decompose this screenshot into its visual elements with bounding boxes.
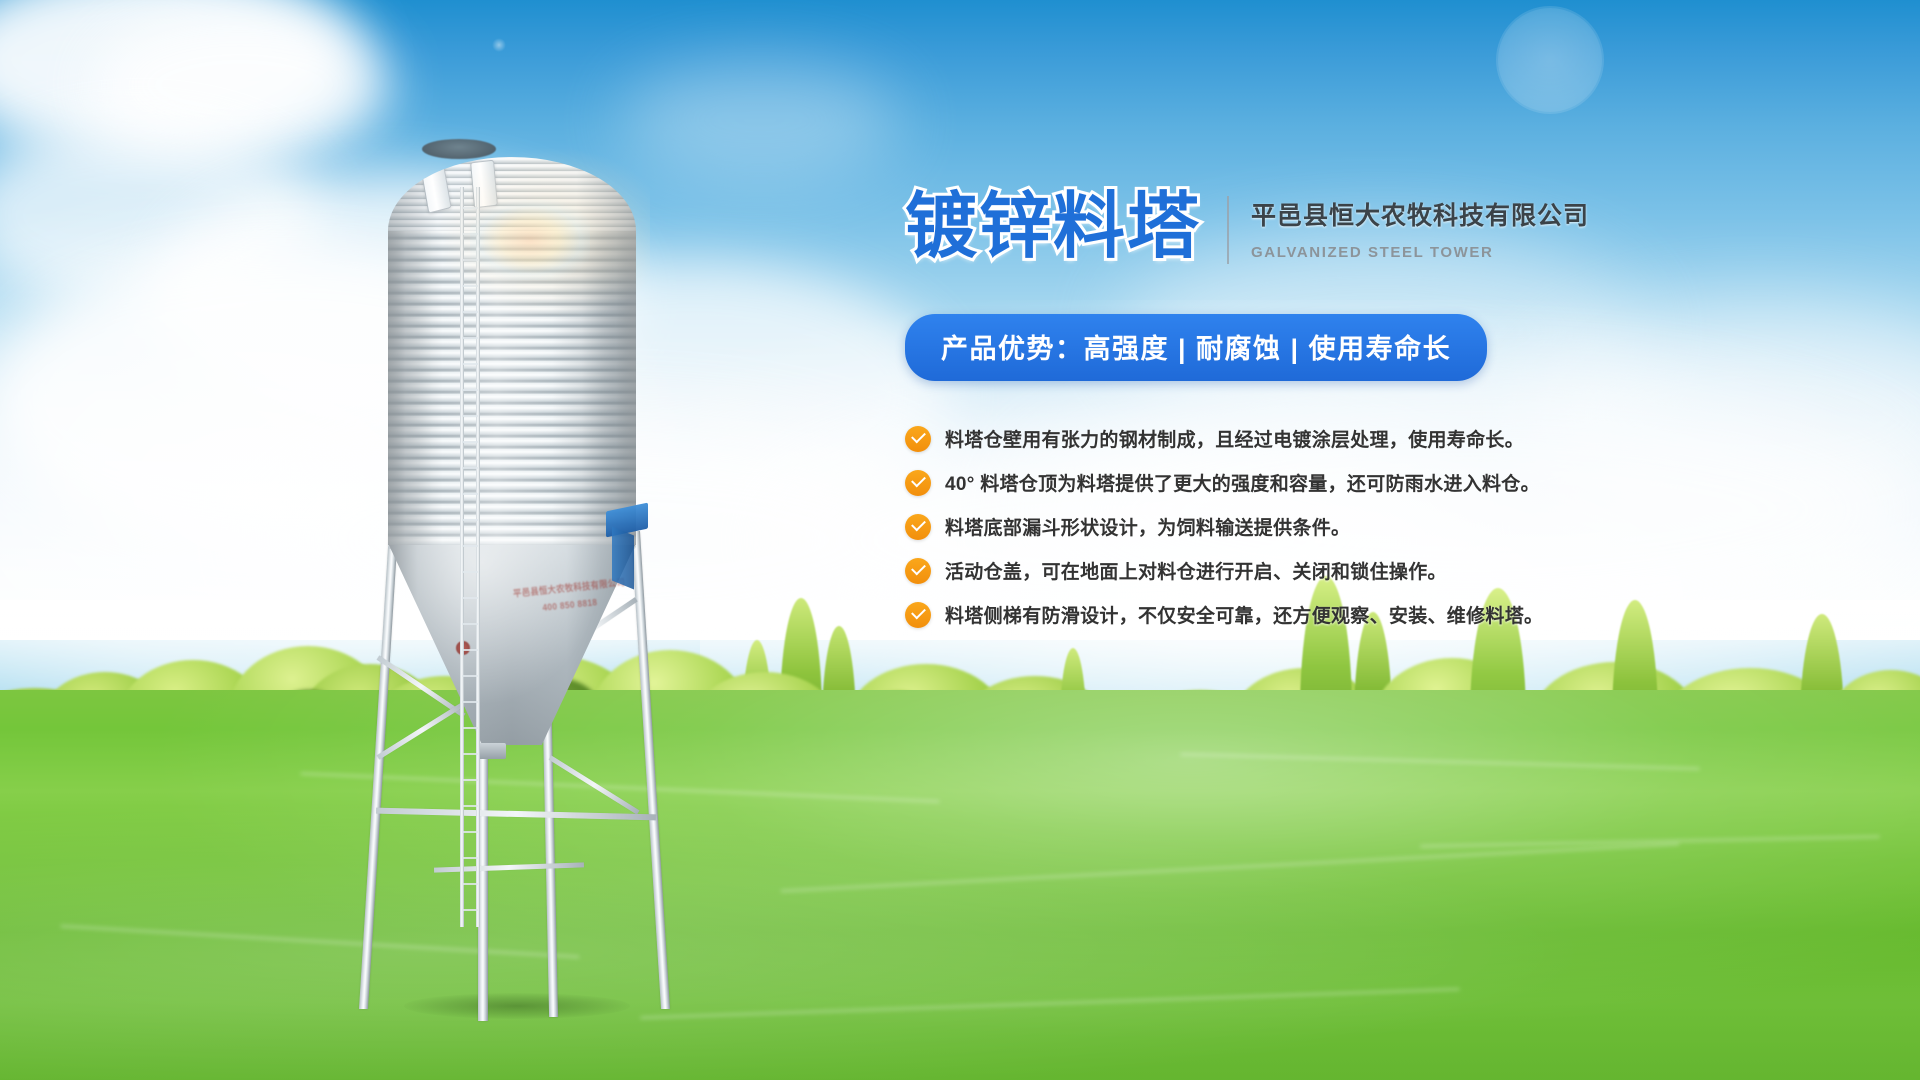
grass-shading bbox=[0, 880, 1920, 1080]
list-item-label: 料塔侧梯有防滑设计，不仅安全可靠，还方便观察、安装、维修料塔。 bbox=[945, 601, 1543, 628]
brand-block: 平邑县恒大农牧科技有限公司 GALVANIZED STEEL TOWER bbox=[1251, 190, 1589, 261]
hero-text-panel: 镀锌料塔 平邑县恒大农牧科技有限公司 GALVANIZED STEEL TOWE… bbox=[905, 190, 1605, 645]
galvanized-silo-image: 平邑县恒大农牧科技有限公司 400 850 8818 bbox=[360, 95, 680, 925]
english-subtitle: GALVANIZED STEEL TOWER bbox=[1251, 244, 1589, 261]
feature-list: 料塔仓壁用有张力的钢材制成，且经过电镀涂层处理，使用寿命长。 40° 料塔仓顶为… bbox=[905, 425, 1605, 628]
company-name: 平邑县恒大农牧科技有限公司 bbox=[1251, 196, 1589, 232]
check-icon bbox=[905, 426, 931, 452]
title-row: 镀锌料塔 平邑县恒大农牧科技有限公司 GALVANIZED STEEL TOWE… bbox=[905, 190, 1605, 264]
list-item: 40° 料塔仓顶为料塔提供了更大的强度和容量，还可防雨水进入料仓。 bbox=[905, 469, 1605, 496]
silo-roof-cap bbox=[422, 139, 496, 159]
silo-brace bbox=[377, 700, 468, 759]
silo-outlet-valve bbox=[478, 743, 506, 759]
list-item-label: 料塔底部漏斗形状设计，为饲料输送提供条件。 bbox=[945, 513, 1350, 540]
list-item: 料塔仓壁用有张力的钢材制成，且经过电镀涂层处理，使用寿命长。 bbox=[905, 425, 1605, 452]
silo-roof-hatch bbox=[420, 162, 451, 213]
silo-brace bbox=[376, 808, 656, 821]
list-item: 料塔底部漏斗形状设计，为饲料输送提供条件。 bbox=[905, 513, 1605, 540]
list-item: 料塔侧梯有防滑设计，不仅安全可靠，还方便观察、安装、维修料塔。 bbox=[905, 601, 1605, 628]
silo-blue-chute bbox=[612, 527, 634, 590]
list-item: 活动仓盖，可在地面上对料仓进行开启、关闭和锁住操作。 bbox=[905, 557, 1605, 584]
silo-brace bbox=[434, 862, 584, 872]
list-item-label: 活动仓盖，可在地面上对料仓进行开启、关闭和锁住操作。 bbox=[945, 557, 1447, 584]
check-icon bbox=[905, 602, 931, 628]
check-icon bbox=[905, 470, 931, 496]
hero-banner: 平邑县恒大农牧科技有限公司 400 850 8818 bbox=[0, 0, 1920, 1080]
silo-roof bbox=[388, 157, 636, 231]
silo-side-ladder bbox=[460, 187, 480, 927]
list-item-label: 料塔仓壁用有张力的钢材制成，且经过电镀涂层处理，使用寿命长。 bbox=[945, 425, 1524, 452]
silo-cone-marking: 平邑县恒大农牧科技有限公司 400 850 8818 bbox=[508, 574, 633, 638]
check-icon bbox=[905, 514, 931, 540]
check-icon bbox=[905, 558, 931, 584]
silo-brace bbox=[549, 755, 640, 814]
advantage-badge: 产品优势：高强度 | 耐腐蚀 | 使用寿命长 bbox=[905, 314, 1487, 381]
vertical-divider-icon bbox=[1227, 196, 1229, 264]
silo-corrugated-body bbox=[388, 185, 636, 545]
silo-ground-shadow bbox=[404, 993, 630, 1019]
list-item-label: 40° 料塔仓顶为料塔提供了更大的强度和容量，还可防雨水进入料仓。 bbox=[945, 469, 1540, 496]
silo-cone-highlight bbox=[388, 543, 636, 745]
page-title: 镀锌料塔 bbox=[905, 190, 1201, 262]
